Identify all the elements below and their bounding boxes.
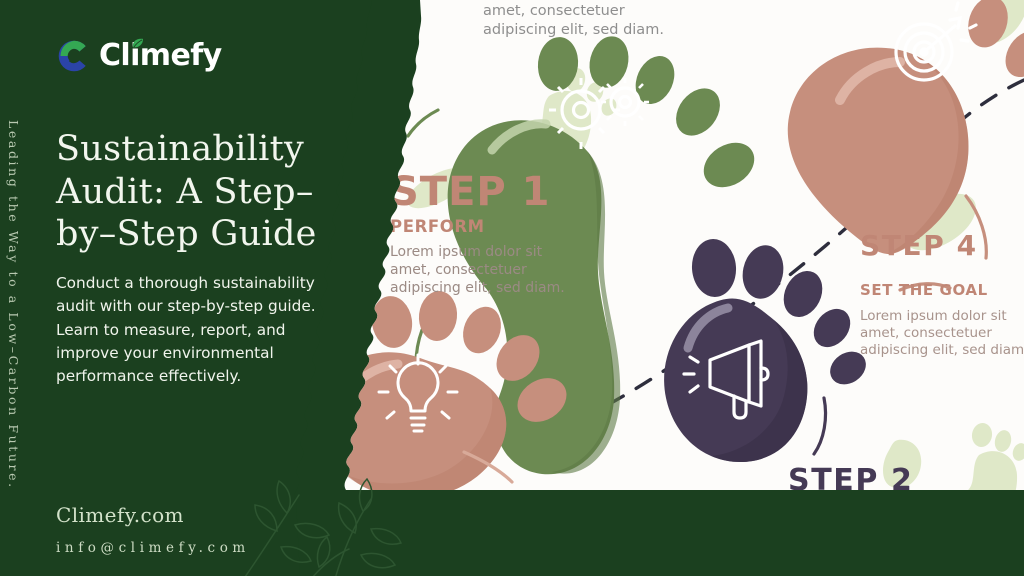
footer-website[interactable]: Climefy.com [56, 503, 184, 527]
step-2-text-block: STEP 2 [788, 463, 913, 498]
svg-text:PERFORM: PERFORM [390, 217, 485, 236]
svg-text:adipiscing elit, sed diam.: adipiscing elit, sed diam. [390, 280, 565, 296]
logo-wordmark: Climefy [99, 41, 222, 71]
svg-text:adipiscing elit, sed diam.: adipiscing elit, sed diam. [860, 342, 1024, 358]
svg-text:STEP 4: STEP 4 [860, 229, 978, 262]
intro-paragraph: Conduct a thorough sustainability audit … [56, 272, 339, 388]
svg-text:SET THE GOAL: SET THE GOAL [860, 281, 988, 299]
infographic-panel: amet, consectetuer adipiscing elit, sed … [300, 0, 1024, 576]
footer-email[interactable]: info@climefy.com [56, 540, 250, 556]
svg-text:adipiscing elit, sed diam.: adipiscing elit, sed diam. [483, 22, 664, 38]
slide-canvas: amet, consectetuer adipiscing elit, sed … [0, 0, 1024, 576]
svg-text:amet, consectetuer: amet, consectetuer [860, 325, 992, 341]
climefy-c-circle-icon [56, 38, 92, 74]
svg-text:Lorem ipsum dolor sit: Lorem ipsum dolor sit [860, 308, 1007, 324]
svg-text:STEP 1: STEP 1 [390, 169, 551, 215]
svg-text:amet, consectetuer: amet, consectetuer [390, 262, 527, 278]
svg-text:Lorem ipsum dolor sit: Lorem ipsum dolor sit [390, 244, 543, 260]
logo-text: Climefy [99, 38, 222, 73]
infographic-artwork: amet, consectetuer adipiscing elit, sed … [300, 0, 1024, 576]
paper-background: amet, consectetuer adipiscing elit, sed … [300, 0, 1024, 529]
svg-text:STEP 2: STEP 2 [788, 463, 913, 498]
leaf-icon [131, 38, 144, 50]
decorative-footprint-top-left [300, 0, 313, 75]
svg-text:amet, consectetuer: amet, consectetuer [483, 3, 625, 19]
brand-logo[interactable]: Climefy [56, 38, 222, 74]
vertical-tagline: Leading the Way to a Low–Carbon Future. [6, 120, 21, 490]
